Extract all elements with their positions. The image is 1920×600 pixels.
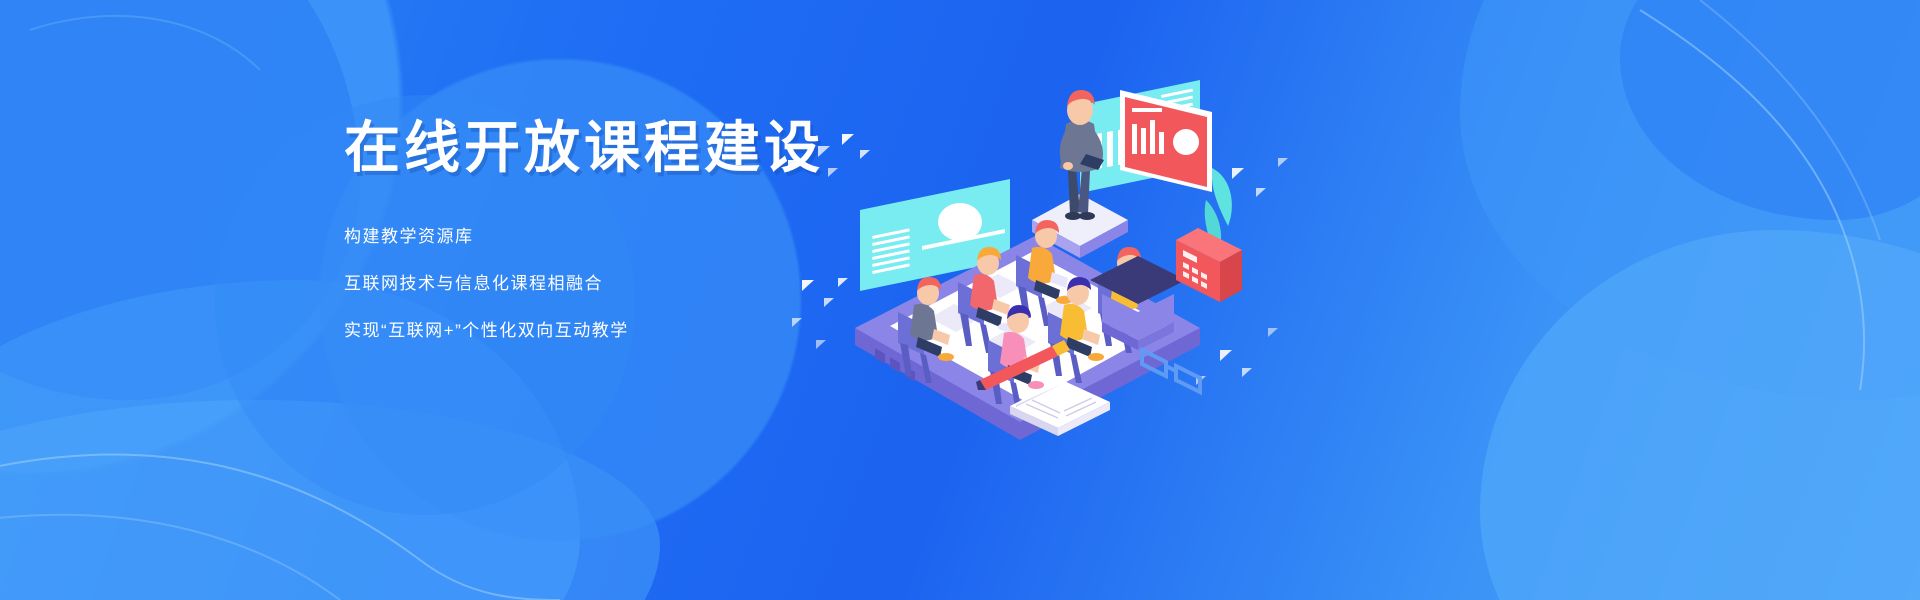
calculator-icon xyxy=(1176,228,1242,302)
triangle-particles-icon xyxy=(788,134,870,349)
classroom-illustration xyxy=(780,50,1300,440)
hero-banner: 在线开放课程建设 构建教学资源库 互联网技术与信息化课程相融合 实现“互联网+”… xyxy=(0,0,1920,600)
